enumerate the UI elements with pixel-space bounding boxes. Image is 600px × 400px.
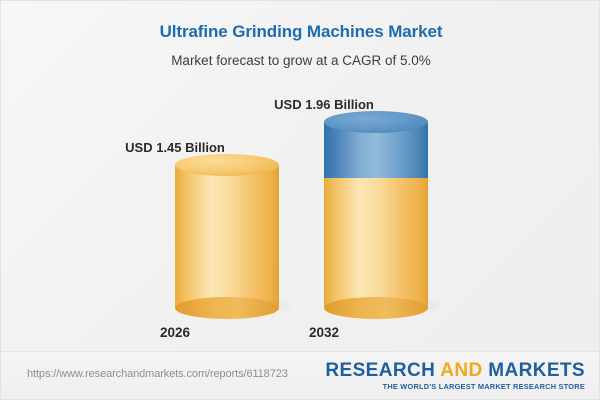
bar-segment-base-2032 xyxy=(324,178,428,308)
cylinder-bar-2032[interactable] xyxy=(324,122,428,308)
axis-label-2032: 2032 xyxy=(309,325,339,340)
footer: https://www.researchandmarkets.com/repor… xyxy=(1,351,600,399)
market-forecast-infographic: Ultrafine Grinding Machines Market Marke… xyxy=(0,0,600,400)
axis-label-2026: 2026 xyxy=(160,325,190,340)
cylinder-bottom-ellipse xyxy=(324,297,428,319)
bar-segment-base-2026 xyxy=(175,165,279,308)
brand-word-markets: MARKETS xyxy=(488,360,585,381)
bar-segment-body xyxy=(324,178,428,308)
report-url[interactable]: https://www.researchandmarkets.com/repor… xyxy=(27,368,288,380)
brand-word-and: AND xyxy=(440,360,488,381)
brand-tagline: THE WORLD'S LARGEST MARKET RESEARCH STOR… xyxy=(325,382,585,392)
cylinder-bar-2026[interactable] xyxy=(175,165,279,308)
cylinder-bottom-ellipse xyxy=(175,297,279,319)
bar-segment-body xyxy=(175,165,279,308)
cylinder-top-ellipse xyxy=(324,111,428,133)
brand-word-research: RESEARCH xyxy=(325,360,440,381)
bar-segment-growth-2032 xyxy=(324,122,428,178)
chart-plot-area: USD 1.45 Billion 2026 USD 1.96 Billion xyxy=(1,1,600,353)
brand-logo[interactable]: RESEARCH AND MARKETS THE WORLD'S LARGEST… xyxy=(325,360,585,392)
cylinder-top-ellipse xyxy=(175,154,279,176)
brand-name: RESEARCH AND MARKETS xyxy=(325,360,585,381)
